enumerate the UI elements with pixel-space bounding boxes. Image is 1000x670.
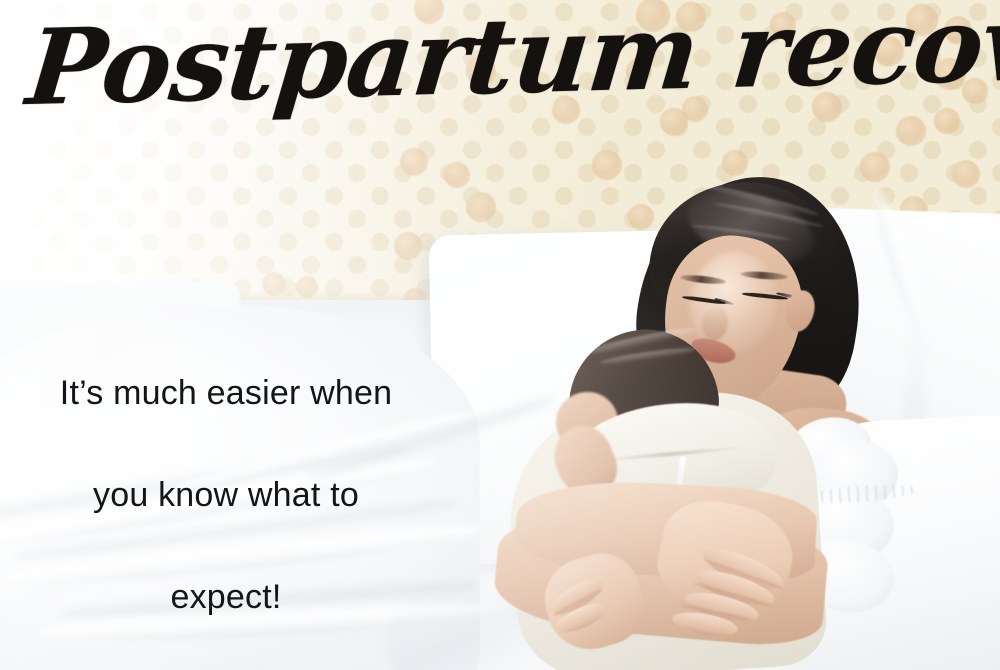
subtitle-line-1: It’s much easier when bbox=[0, 342, 452, 444]
subtitle-line-3: expect! bbox=[0, 546, 452, 648]
postpartum-recovery-poster: Postpartum recovery It’s much easier whe… bbox=[0, 0, 1000, 670]
poster-subtitle: It’s much easier when you know what to e… bbox=[0, 342, 452, 648]
subtitle-line-2: you know what to bbox=[0, 444, 452, 546]
poster-title: Postpartum recovery bbox=[23, 0, 983, 120]
